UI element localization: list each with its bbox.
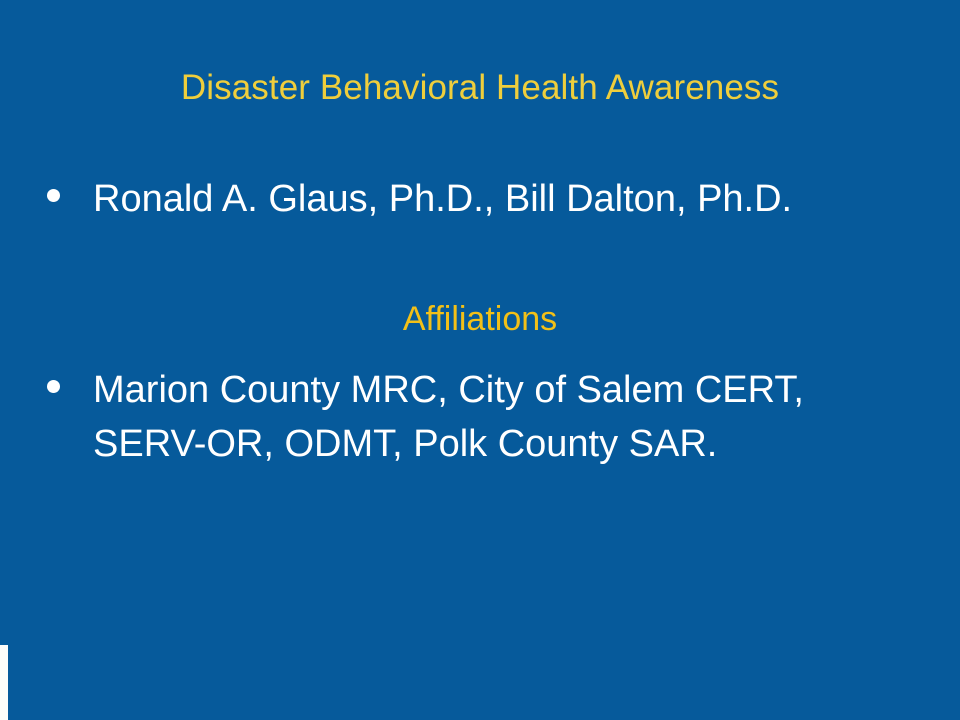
affiliations-bullet-label: Marion County MRC, City of Salem CERT, S… [60,363,913,471]
authors-bullet-item: Ronald A. Glaus, Ph.D., Bill Dalton, Ph.… [47,172,927,226]
bullet-dot-icon [47,380,60,393]
page-title: Disaster Behavioral Health Awareness [0,66,960,110]
bullet-dot-icon [47,189,60,202]
affiliations-bullet-item: Marion County MRC, City of Salem CERT, S… [47,363,927,471]
left-edge-artifact [0,645,8,720]
affiliations-heading: Affiliations [0,298,960,340]
authors-bullet-label: Ronald A. Glaus, Ph.D., Bill Dalton, Ph.… [60,172,927,226]
presentation-slide: Disaster Behavioral Health Awareness Ron… [0,0,960,720]
